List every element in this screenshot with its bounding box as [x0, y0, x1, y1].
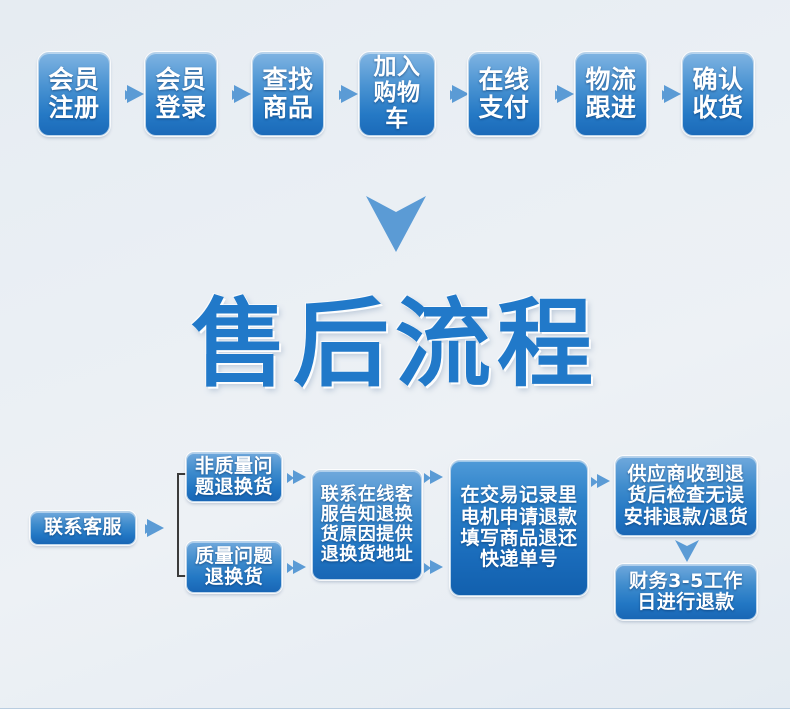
- arrow-right-icon: [597, 474, 610, 488]
- arrow-right-icon: [293, 560, 306, 574]
- arrow-right-icon: [341, 85, 358, 103]
- arrow-right-icon: [127, 85, 144, 103]
- flow-node-member-login[interactable]: 会员 登录: [145, 52, 217, 136]
- diagram-canvas: 会员 注册 会员 登录 查找 商品 加入 购物车 在线 支付 物流 跟进 确认 …: [0, 0, 790, 708]
- flow-node-contact-online-service[interactable]: 联系在线客 服告知退换 货原因提供 退换货地址: [312, 470, 422, 580]
- flow-node-label: 查找 商品: [259, 66, 316, 122]
- flow-node-add-to-cart[interactable]: 加入 购物车: [359, 52, 435, 136]
- arrow-right-icon: [557, 85, 574, 103]
- arrow-right-icon: [430, 560, 443, 574]
- flow-node-confirm-receipt[interactable]: 确认 收货: [682, 52, 754, 136]
- flow-node-apply-refund[interactable]: 在交易记录里 电机申请退款 填写商品退还 快递单号: [450, 460, 588, 596]
- flow-node-find-product[interactable]: 查找 商品: [252, 52, 324, 136]
- flow-node-label: 在线 支付: [475, 66, 532, 122]
- flow-node-online-payment[interactable]: 在线 支付: [468, 52, 540, 136]
- arrow-down-icon: [366, 196, 426, 252]
- flow-node-quality-return[interactable]: 质量问题 退换货: [186, 541, 282, 593]
- flow-node-supplier-check[interactable]: 供应商收到退 货后检查无误 安排退款/退货: [615, 456, 757, 536]
- flow-node-label: 联系客服: [41, 517, 125, 538]
- flow-node-logistics-track[interactable]: 物流 跟进: [575, 52, 647, 136]
- flow-node-label: 加入 购物车: [360, 55, 434, 132]
- flow-node-label: 财务3-5工作 日进行退款: [626, 571, 746, 614]
- arrow-right-icon: [293, 470, 306, 484]
- arrow-down-icon: [675, 540, 699, 562]
- flow-node-non-quality-return[interactable]: 非质量问 题退换货: [186, 452, 282, 502]
- flow-node-label: 质量问题 退换货: [192, 546, 276, 589]
- flow-node-label: 物流 跟进: [582, 66, 639, 122]
- flow-node-label: 非质量问 题退换货: [192, 456, 276, 499]
- flow-node-label: 会员 注册: [45, 66, 102, 122]
- arrow-right-icon: [452, 85, 469, 103]
- arrow-right-icon: [664, 85, 681, 103]
- page-title: 售后流程: [0, 296, 790, 392]
- arrow-right-icon: [234, 85, 251, 103]
- arrow-right-icon: [430, 470, 443, 484]
- flow-node-label: 会员 登录: [152, 66, 209, 122]
- flow-node-label: 联系在线客 服告知退换 货原因提供 退换货地址: [318, 485, 417, 566]
- flow-node-contact-support[interactable]: 联系客服: [30, 511, 136, 545]
- flow-node-label: 确认 收货: [689, 66, 746, 122]
- arrow-right-icon: [147, 519, 164, 537]
- flow-node-label: 在交易记录里 电机申请退款 填写商品退还 快递单号: [457, 485, 580, 570]
- flow-node-member-register[interactable]: 会员 注册: [38, 52, 110, 136]
- flow-node-finance-refund[interactable]: 财务3-5工作 日进行退款: [615, 564, 757, 620]
- flow-node-label: 供应商收到退 货后检查无误 安排退款/退货: [621, 464, 751, 528]
